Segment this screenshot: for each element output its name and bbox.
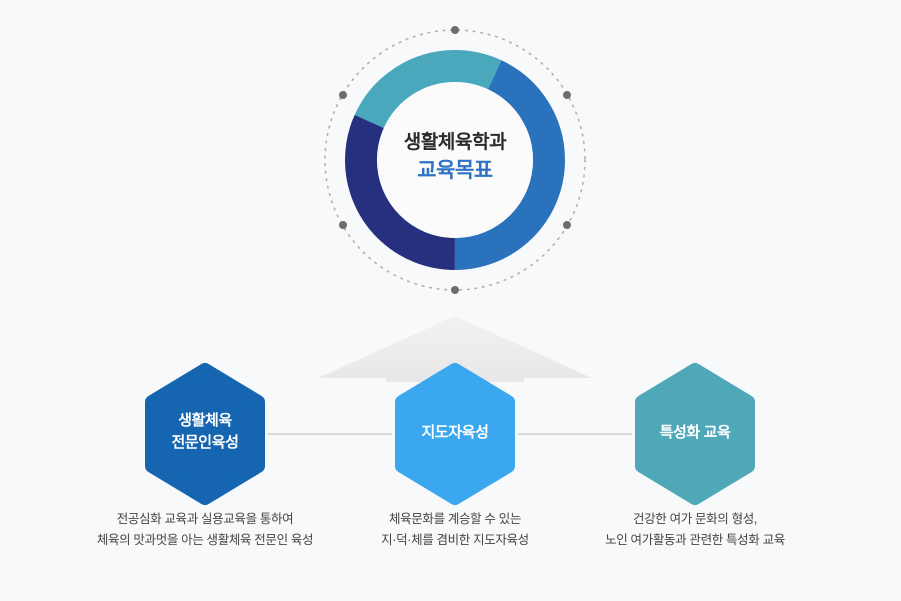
education-goals-infographic: 생활체육학과 교육목표 생활체육 전문인육성 지도자육성 특성화 교육 전공심화… bbox=[0, 0, 901, 601]
hexagon-pillar-3[interactable] bbox=[642, 370, 748, 498]
caption-pillar-3: 건강한 여가 문화의 형성, 노인 여가활동과 관련한 특성화 교육 bbox=[545, 509, 845, 550]
hexagon-pillar-1[interactable] bbox=[152, 370, 258, 498]
hexagon-pillar-2[interactable] bbox=[402, 370, 508, 498]
caption-pillar-3-line2: 노인 여가활동과 관련한 특성화 교육 bbox=[545, 530, 845, 551]
caption-pillar-3-line1: 건강한 여가 문화의 형성, bbox=[545, 509, 845, 530]
donut-center-line2: 교육목표 bbox=[355, 157, 555, 185]
donut-center-line1: 생활체육학과 bbox=[355, 130, 555, 155]
donut-center-text: 생활체육학과 교육목표 bbox=[355, 130, 555, 186]
